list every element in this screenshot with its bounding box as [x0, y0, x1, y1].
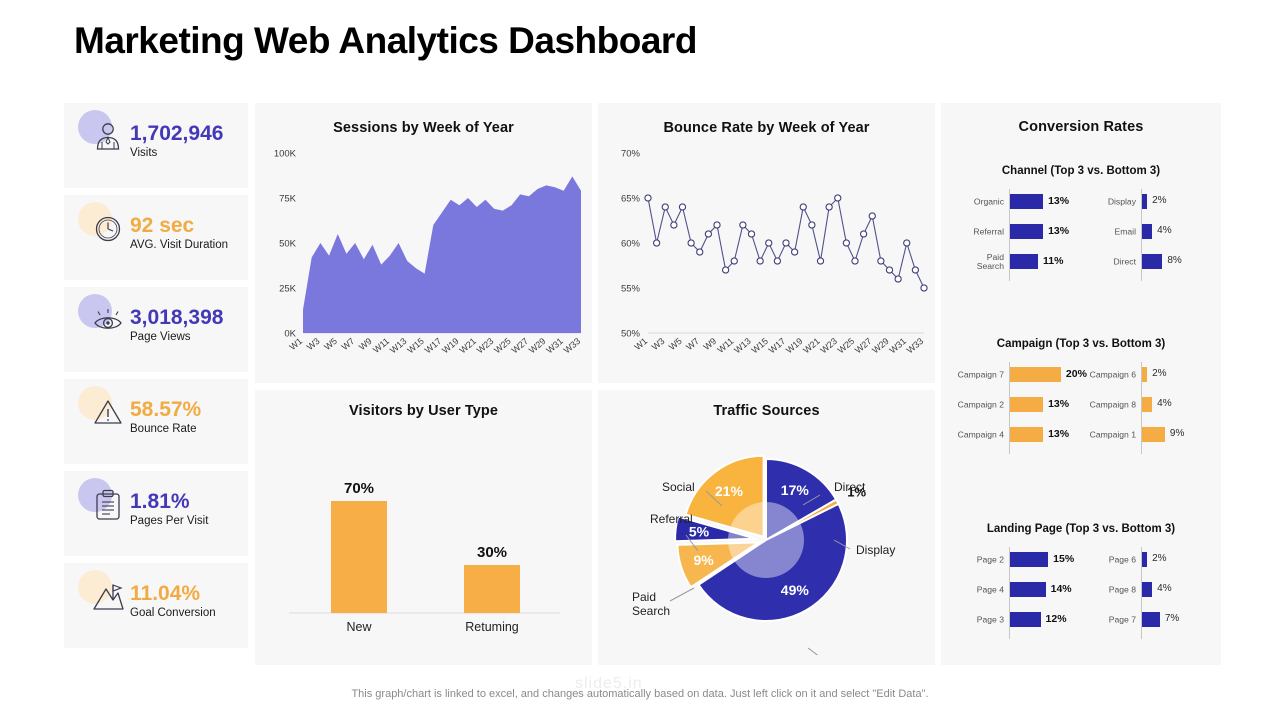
conv-category-label: Display	[1082, 197, 1136, 206]
conv-bar	[1142, 367, 1147, 382]
kpi-card-avg-visit-duration: 92 secAVG. Visit Duration	[64, 195, 248, 280]
conv-value-label: 2%	[1152, 368, 1166, 379]
sessions-x-tick: W5	[322, 336, 339, 352]
sessions-x-tick: W33	[562, 336, 583, 356]
bounce-data-marker	[766, 240, 772, 246]
conv-row: Referral13%	[947, 223, 1081, 241]
bounce-y-tick: 50%	[621, 329, 641, 340]
sessions-area-chart: 0K25K50K75K100KW1W3W5W7W9W11W13W15W17W19…	[255, 141, 592, 376]
conv_landing-grid: Page 215%Page 414%Page 312%Page 62%Page …	[941, 545, 1221, 641]
bounce-x-tick: W9	[702, 336, 719, 352]
conv-category-label: Campaign 8	[1082, 400, 1136, 409]
pie-callout-label: Display	[856, 543, 895, 557]
sessions-x-tick: W27	[510, 336, 531, 356]
bounce-data-marker	[705, 231, 711, 237]
conversion-landing-title: Landing Page (Top 3 vs. Bottom 3)	[941, 523, 1221, 535]
kpi-card-goal-conversion: 11.04%Goal Conversion	[64, 563, 248, 648]
kpi-text: 58.57%Bounce Rate	[130, 399, 201, 435]
kpi-value: 92 sec	[130, 215, 228, 237]
conv-value-label: 8%	[1167, 255, 1181, 266]
bounce-y-tick: 55%	[621, 284, 641, 295]
conv_channel-top-group: Organic13%Referral13%Paid Search11%	[947, 187, 1081, 283]
bounce-data-marker	[740, 222, 746, 228]
panel-conversion-rates: Conversion Rates Channel (Top 3 vs. Bott…	[941, 103, 1221, 665]
bounce-x-tick: W11	[715, 336, 735, 355]
clipboard-icon	[89, 486, 127, 524]
bounce-x-tick: W21	[801, 336, 822, 356]
conv_landing-bottom-group: Page 62%Page 84%Page 77%	[1083, 545, 1217, 641]
panel-visitors-by-user-type: Visitors by User Type 70%New30%Retuming	[255, 390, 592, 665]
sessions-x-tick: W31	[544, 336, 565, 356]
sessions-y-tick: 100K	[274, 149, 297, 160]
bounce-data-marker	[671, 222, 677, 228]
kpi-text: 3,018,398Page Views	[130, 307, 223, 343]
conv-category-label: Page 2	[946, 555, 1004, 564]
pie-leader-line	[808, 648, 824, 655]
sessions-x-tick: W29	[527, 336, 548, 356]
conv-bar	[1010, 397, 1043, 412]
conv-bar	[1010, 612, 1041, 627]
conv-value-label: 12%	[1046, 613, 1067, 625]
kpi-icon-wrap	[78, 202, 130, 252]
bounce-data-marker	[783, 240, 789, 246]
conv-value-label: 4%	[1157, 225, 1171, 236]
kpi-card-visits: 1,702,946Visits	[64, 103, 248, 188]
sessions-x-tick: W23	[475, 336, 496, 356]
conv-bar	[1142, 224, 1152, 239]
bounce-data-marker	[861, 231, 867, 237]
bounce-data-marker	[826, 204, 832, 210]
conv_campaign-grid: Campaign 720%Campaign 213%Campaign 413%C…	[941, 360, 1221, 456]
pie-callout-label: Referral	[650, 512, 693, 526]
sessions-x-tick: W7	[340, 336, 357, 352]
sessions-x-tick: W19	[440, 336, 461, 356]
bounce-y-tick: 70%	[621, 149, 641, 160]
kpi-label: Visits	[130, 147, 223, 159]
bounce-x-tick: W3	[650, 336, 667, 352]
kpi-icon-wrap	[78, 570, 130, 620]
kpi-card-pages-per-visit: 1.81%Pages Per Visit	[64, 471, 248, 556]
conv-row: Direct8%	[1083, 253, 1217, 271]
bounce-x-tick: W15	[749, 336, 770, 356]
conversion-channel-block: Channel (Top 3 vs. Bottom 3) Organic13%R…	[941, 165, 1221, 283]
pie-leader-line	[670, 588, 694, 601]
bounce-chart-title: Bounce Rate by Week of Year	[598, 120, 935, 136]
page-title: Marketing Web Analytics Dashboard	[74, 20, 697, 62]
visitors-category-label: New	[346, 620, 372, 634]
sessions-y-tick: 75K	[279, 194, 297, 205]
bounce-data-marker	[852, 258, 858, 264]
sessions-y-tick: 50K	[279, 239, 297, 250]
conv-category-label: Organic	[946, 197, 1004, 206]
sessions-x-tick: W25	[492, 336, 513, 356]
conv-row: Campaign 84%	[1083, 396, 1217, 414]
kpi-icon-wrap	[78, 386, 130, 436]
bounce-data-marker	[886, 267, 892, 273]
conv-value-label: 4%	[1157, 583, 1171, 594]
bounce-data-marker	[688, 240, 694, 246]
conv-row: Page 215%	[947, 551, 1081, 569]
kpi-icon-wrap	[78, 110, 130, 160]
visitors-bar	[464, 565, 520, 613]
eye-icon	[89, 302, 127, 340]
conv_channel-grid: Organic13%Referral13%Paid Search11%Displ…	[941, 187, 1221, 283]
bounce-data-marker	[843, 240, 849, 246]
conv-bar	[1010, 427, 1043, 442]
bounce-x-tick: W23	[818, 336, 839, 356]
sessions-area-path	[303, 176, 581, 333]
conv-category-label: Campaign 6	[1082, 370, 1136, 379]
conv-value-label: 7%	[1165, 613, 1179, 624]
visitors-bar	[331, 501, 387, 613]
conversion-rates-title: Conversion Rates	[941, 119, 1221, 135]
conv-row: Campaign 213%	[947, 396, 1081, 414]
visitors-data-label: 30%	[477, 544, 507, 561]
conv-row: Display2%	[1083, 193, 1217, 211]
conv_landing-top-group: Page 215%Page 414%Page 312%	[947, 545, 1081, 641]
conv-row: Page 62%	[1083, 551, 1217, 569]
dashboard-page: Marketing Web Analytics Dashboard 1,702,…	[0, 0, 1280, 720]
sessions-x-tick: W21	[457, 336, 478, 356]
bounce-data-marker	[662, 204, 668, 210]
pie-data-label: 17%	[781, 482, 810, 498]
pie-callout-label: Direct	[834, 480, 866, 494]
kpi-value: 11.04%	[130, 583, 216, 605]
pie-data-label: 49%	[781, 582, 810, 598]
conv-value-label: 2%	[1152, 553, 1166, 564]
footer-note: This graph/chart is linked to excel, and…	[0, 688, 1280, 700]
bounce-x-tick: W13	[732, 336, 753, 356]
conv-bar	[1010, 194, 1043, 209]
conv-category-label: Page 4	[946, 585, 1004, 594]
conv-bar	[1010, 254, 1038, 269]
pie-data-label: 9%	[693, 552, 714, 568]
bounce-data-marker	[697, 249, 703, 255]
conv-value-label: 4%	[1157, 398, 1171, 409]
conv-row: Email4%	[1083, 223, 1217, 241]
pie-callout-label: PaidSearch	[632, 590, 670, 618]
conv_channel-bottom-group: Display2%Email4%Direct8%	[1083, 187, 1217, 283]
conv-category-label: Page 7	[1082, 615, 1136, 624]
pie-callout-label: Social	[662, 480, 695, 494]
kpi-card-page-views: 3,018,398Page Views	[64, 287, 248, 372]
bounce-data-marker	[904, 240, 910, 246]
kpi-label: Goal Conversion	[130, 607, 216, 619]
kpi-label: AVG. Visit Duration	[130, 239, 228, 251]
conv-value-label: 13%	[1048, 428, 1069, 440]
conv-value-label: 13%	[1048, 195, 1069, 207]
conv-bar	[1142, 427, 1165, 442]
kpi-icon-wrap	[78, 478, 130, 528]
conv-bar	[1010, 552, 1048, 567]
conv-value-label: 15%	[1053, 553, 1074, 565]
kpi-icon-wrap	[78, 294, 130, 344]
sessions-x-tick: W11	[371, 336, 391, 355]
kpi-text: 11.04%Goal Conversion	[130, 583, 216, 619]
visitors-chart-title: Visitors by User Type	[255, 403, 592, 419]
conv-category-label: Email	[1082, 227, 1136, 236]
sessions-x-tick: W9	[357, 336, 374, 352]
bounce-data-marker	[748, 231, 754, 237]
kpi-card-bounce-rate: 58.57%Bounce Rate	[64, 379, 248, 464]
kpi-text: 1,702,946Visits	[130, 123, 223, 159]
bounce-data-marker	[912, 267, 918, 273]
conv-row: Page 84%	[1083, 581, 1217, 599]
bounce-x-tick: W31	[887, 336, 908, 356]
conv-value-label: 13%	[1048, 225, 1069, 237]
panel-bounce-rate-by-week: Bounce Rate by Week of Year 50%55%60%65%…	[598, 103, 935, 383]
panel-traffic-sources: Traffic Sources 17%1%49%9%5%21%DirectDis…	[598, 390, 935, 665]
conv-value-label: 2%	[1152, 195, 1166, 206]
conv_campaign-bottom-group: Campaign 62%Campaign 84%Campaign 19%	[1083, 360, 1217, 456]
conv-category-label: Paid Search	[946, 253, 1004, 271]
conversion-campaign-block: Campaign (Top 3 vs. Bottom 3) Campaign 7…	[941, 338, 1221, 456]
traffic-pie-chart: 17%1%49%9%5%21%DirectDisplayOrganic Sear…	[598, 423, 935, 655]
bounce-x-tick: W19	[784, 336, 805, 356]
conv-row: Page 77%	[1083, 611, 1217, 629]
sessions-chart-title: Sessions by Week of Year	[255, 120, 592, 136]
kpi-label: Pages Per Visit	[130, 515, 208, 527]
conv-row: Campaign 720%	[947, 366, 1081, 384]
visitors-bar-chart: 70%New30%Retuming	[255, 425, 592, 655]
conv-category-label: Page 3	[946, 615, 1004, 624]
bounce-data-marker	[809, 222, 815, 228]
bounce-data-marker	[679, 204, 685, 210]
kpi-label: Bounce Rate	[130, 423, 201, 435]
kpi-text: 92 secAVG. Visit Duration	[130, 215, 228, 251]
pie-data-label: 5%	[689, 524, 710, 540]
conv-bar	[1142, 254, 1162, 269]
kpi-value: 1,702,946	[130, 123, 223, 145]
kpi-value: 3,018,398	[130, 307, 223, 329]
bounce-data-marker	[921, 285, 927, 291]
conv-value-label: 9%	[1170, 428, 1184, 439]
conv_campaign-top-group: Campaign 720%Campaign 213%Campaign 413%	[947, 360, 1081, 456]
conv-bar	[1010, 224, 1043, 239]
conv-category-label: Campaign 4	[946, 430, 1004, 439]
conv-bar	[1010, 367, 1061, 382]
pie-inner-overlay	[728, 502, 804, 578]
kpi-value: 1.81%	[130, 491, 208, 513]
conv-category-label: Page 8	[1082, 585, 1136, 594]
bounce-y-tick: 60%	[621, 239, 641, 250]
conv-bar	[1142, 552, 1147, 567]
conv-value-label: 11%	[1043, 255, 1063, 267]
sessions-x-tick: W13	[388, 336, 409, 356]
conv-row: Campaign 413%	[947, 426, 1081, 444]
conv-bar	[1142, 582, 1152, 597]
bounce-x-tick: W25	[836, 336, 857, 356]
bounce-x-tick: W5	[667, 336, 684, 352]
bounce-data-marker	[792, 249, 798, 255]
bounce-line-chart: 50%55%60%65%70%W1W3W5W7W9W11W13W15W17W19…	[598, 141, 935, 376]
conv-row: Paid Search11%	[947, 253, 1081, 271]
pie-callout-label: Organic Search	[830, 653, 913, 655]
bounce-data-marker	[645, 195, 651, 201]
bounce-x-tick: W33	[905, 336, 926, 356]
conv-category-label: Campaign 2	[946, 400, 1004, 409]
bounce-data-marker	[723, 267, 729, 273]
bounce-x-tick: W27	[853, 336, 874, 356]
bounce-data-marker	[731, 258, 737, 264]
conversion-landing-block: Landing Page (Top 3 vs. Bottom 3) Page 2…	[941, 523, 1221, 641]
user-icon	[89, 118, 127, 156]
bounce-data-marker	[654, 240, 660, 246]
kpi-column: 1,702,946Visits92 secAVG. Visit Duration…	[64, 103, 248, 655]
bounce-data-marker	[757, 258, 763, 264]
bounce-data-marker	[878, 258, 884, 264]
kpi-label: Page Views	[130, 331, 223, 343]
kpi-text: 1.81%Pages Per Visit	[130, 491, 208, 527]
conv-bar	[1142, 397, 1152, 412]
sessions-x-tick: W17	[423, 336, 444, 356]
conv-row: Campaign 62%	[1083, 366, 1217, 384]
warning-icon	[89, 394, 127, 432]
conv-row: Campaign 19%	[1083, 426, 1217, 444]
conv-row: Page 312%	[947, 611, 1081, 629]
conv-row: Organic13%	[947, 193, 1081, 211]
conv-bar	[1010, 582, 1046, 597]
conv-bar	[1142, 194, 1147, 209]
conversion-campaign-title: Campaign (Top 3 vs. Bottom 3)	[941, 338, 1221, 350]
pie-data-label: 21%	[715, 483, 744, 499]
bounce-y-tick: 65%	[621, 194, 641, 205]
conv-category-label: Campaign 7	[946, 370, 1004, 379]
sessions-x-tick: W15	[405, 336, 426, 356]
sessions-y-tick: 25K	[279, 284, 297, 295]
conv-category-label: Referral	[946, 227, 1004, 236]
conv-category-label: Direct	[1082, 257, 1136, 266]
visitors-category-label: Retuming	[465, 620, 519, 634]
conv-row: Page 414%	[947, 581, 1081, 599]
conversion-channel-title: Channel (Top 3 vs. Bottom 3)	[941, 165, 1221, 177]
bounce-data-marker	[800, 204, 806, 210]
flag-peak-icon	[89, 578, 127, 616]
conv-bar	[1142, 612, 1160, 627]
conv-category-label: Campaign 1	[1082, 430, 1136, 439]
conv-category-label: Page 6	[1082, 555, 1136, 564]
bounce-data-marker	[835, 195, 841, 201]
bounce-data-marker	[895, 276, 901, 282]
conv-value-label: 14%	[1051, 583, 1072, 595]
bounce-data-marker	[774, 258, 780, 264]
bounce-x-tick: W7	[684, 336, 701, 352]
visitors-data-label: 70%	[344, 480, 374, 497]
clock-icon	[89, 210, 127, 248]
bounce-data-marker	[869, 213, 875, 219]
sessions-x-tick: W3	[305, 336, 322, 352]
kpi-value: 58.57%	[130, 399, 201, 421]
bounce-x-tick: W29	[870, 336, 891, 356]
bounce-data-marker	[817, 258, 823, 264]
traffic-chart-title: Traffic Sources	[598, 403, 935, 419]
bounce-x-tick: W17	[767, 336, 788, 356]
bounce-data-marker	[714, 222, 720, 228]
panel-sessions-by-week: Sessions by Week of Year 0K25K50K75K100K…	[255, 103, 592, 383]
conv-value-label: 13%	[1048, 398, 1069, 410]
